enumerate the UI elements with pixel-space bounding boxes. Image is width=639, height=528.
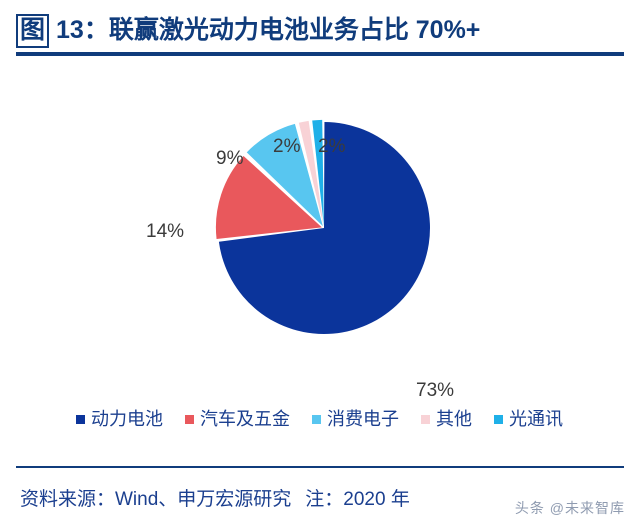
legend-swatch-icon xyxy=(421,415,430,424)
title-divider xyxy=(16,52,624,56)
legend-swatch-icon xyxy=(76,415,85,424)
footer-divider xyxy=(16,466,624,468)
slice-label-guangtongxun: 2% xyxy=(318,136,345,158)
legend-item-qita[interactable]: 其他 xyxy=(421,410,472,428)
slice-label-qiche: 14% xyxy=(146,221,184,243)
pie-chart: 73% 14% 9% 2% 2% xyxy=(0,60,639,400)
page-title: 图 13：联赢激光动力电池业务占比 70%+ xyxy=(16,14,480,48)
source-note: 资料来源：Wind、申万宏源研究注：2020 年 xyxy=(20,484,410,511)
chart-legend: 动力电池 汽车及五金 消费电子 其他 光通讯 xyxy=(0,410,639,428)
legend-item-guangtongxun[interactable]: 光通讯 xyxy=(494,410,563,428)
legend-label: 动力电池 xyxy=(91,410,163,428)
figure-badge: 图 xyxy=(16,14,49,48)
slice-label-xiaofei: 9% xyxy=(216,148,243,170)
legend-item-qiche[interactable]: 汽车及五金 xyxy=(185,410,290,428)
legend-label: 光通讯 xyxy=(509,410,563,428)
slice-label-qita: 2% xyxy=(273,136,300,158)
legend-swatch-icon xyxy=(185,415,194,424)
footer-note-text: 注：2020 年 xyxy=(305,489,410,510)
legend-swatch-icon xyxy=(494,415,503,424)
page-title-text: 13：联赢激光动力电池业务占比 70%+ xyxy=(56,17,480,45)
legend-label: 汽车及五金 xyxy=(200,410,290,428)
chart-page: 图 13：联赢激光动力电池业务占比 70%+ 73% 14% 9% 2% 2% … xyxy=(0,0,639,528)
legend-item-dongli[interactable]: 动力电池 xyxy=(76,410,163,428)
legend-item-xiaofei[interactable]: 消费电子 xyxy=(312,410,399,428)
source-text: 资料来源：Wind、申万宏源研究 xyxy=(20,489,291,510)
legend-swatch-icon xyxy=(312,415,321,424)
legend-label: 其他 xyxy=(436,410,472,428)
watermark: 头条 @未来智库 xyxy=(515,498,625,518)
legend-label: 消费电子 xyxy=(327,410,399,428)
slice-label-dongli: 73% xyxy=(416,380,454,402)
